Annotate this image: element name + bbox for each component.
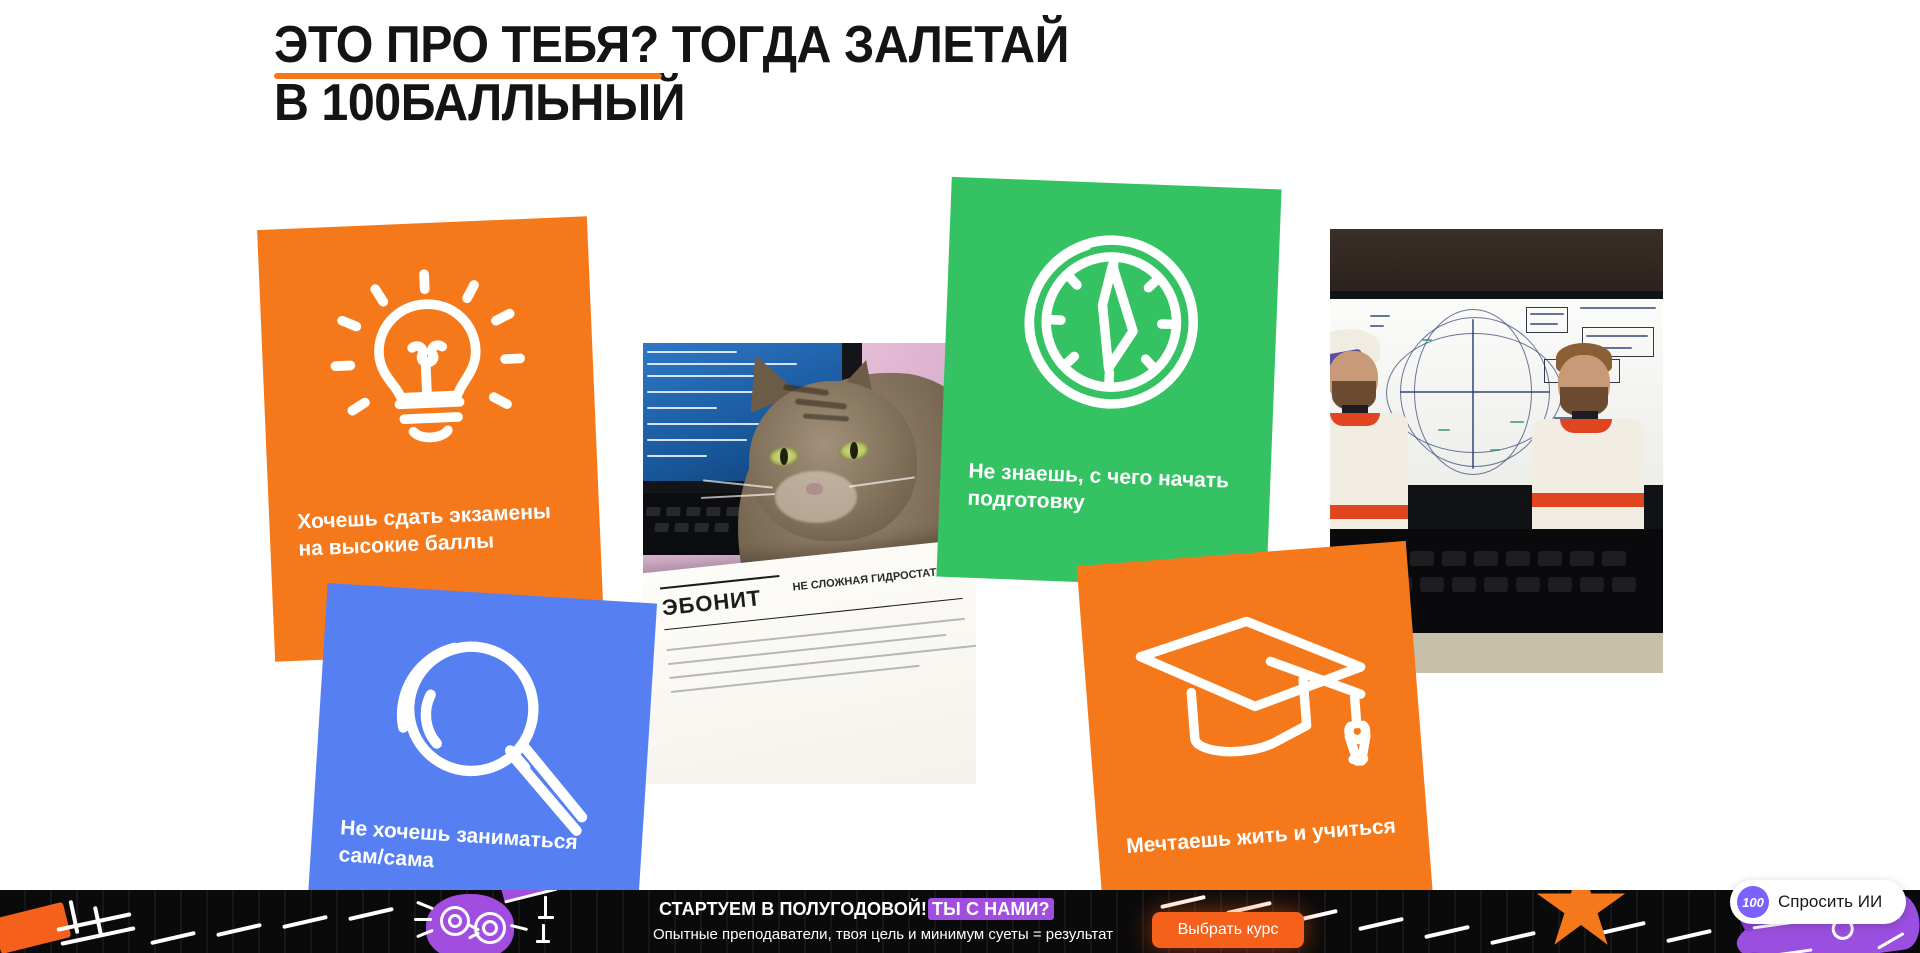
graduation-cap-icon [1119,570,1384,794]
bottom-promo-bar: СТАРТУЕМ В ПОЛУГОДОВОЙ!ТЫ С НАМИ? Опытны… [0,890,1920,953]
ask-ai-label: Спросить ИИ [1778,892,1882,912]
feature-card-caption: Мечтаешь жить и учиться [1125,812,1408,861]
feature-card-dream[interactable]: Мечтаешь жить и учиться [1077,541,1434,925]
ask-ai-widget[interactable]: ✕ 100 Спросить ИИ [1726,880,1920,953]
ai-score-badge: 100 [1737,886,1769,918]
feature-card-start[interactable]: Не знаешь, с чего начать подготовку [936,177,1281,589]
photo-lesson-teacher-left [1330,325,1414,549]
photo-lesson-teacher-right [1532,343,1644,549]
bar-title-highlight: ТЫ С НАМИ? [928,898,1054,920]
bar-title-main: СТАРТУЕМ В ПОЛУГОДОВОЙ! [659,899,927,919]
feature-card-caption: Не знаешь, с чего начать подготовку [967,458,1251,523]
photo-cat: ЭБОНИТ НЕ СЛОЖНАЯ ГИДРОСТАТИКА №26 [643,343,976,784]
lightbulb-icon [316,255,540,479]
worksheet-title: ЭБОНИТ [661,585,763,621]
photo-cat-pupil-right [850,442,858,459]
photo-cat-muzzle [775,471,857,523]
bar-subtitle: Опытные преподаватели, твоя цель и миним… [653,926,1113,943]
clock-icon [1002,213,1220,431]
promo-page: ЭТО ПРО ТЕБЯ? ТОГДА ЗАЛЕТАЙ В 100БАЛЛЬНЫ… [0,0,1920,953]
bar-title: СТАРТУЕМ В ПОЛУГОДОВОЙ!ТЫ С НАМИ? [659,899,1054,920]
photo-cat-nose [806,483,823,495]
choose-course-button[interactable]: Выбрать курс [1152,912,1304,948]
photo-cat-worksheet: ЭБОНИТ НЕ СЛОЖНАЯ ГИДРОСТАТИКА №26 [643,534,976,784]
magnifier-icon [362,606,606,850]
collage-stage: ЭБОНИТ НЕ СЛОЖНАЯ ГИДРОСТАТИКА №26 [0,0,1920,915]
feature-card-self-study[interactable]: Не хочешь заниматься сам/сама [307,583,657,933]
feature-card-caption: Хочешь сдать экзамены на высокие баллы [297,497,581,563]
ask-ai-button[interactable]: 100 Спросить ИИ [1730,880,1906,924]
photo-lesson-laptop-screen [1330,291,1663,549]
cat-mascot-icon [418,890,538,953]
photo-cat-pupil-left [780,448,788,465]
